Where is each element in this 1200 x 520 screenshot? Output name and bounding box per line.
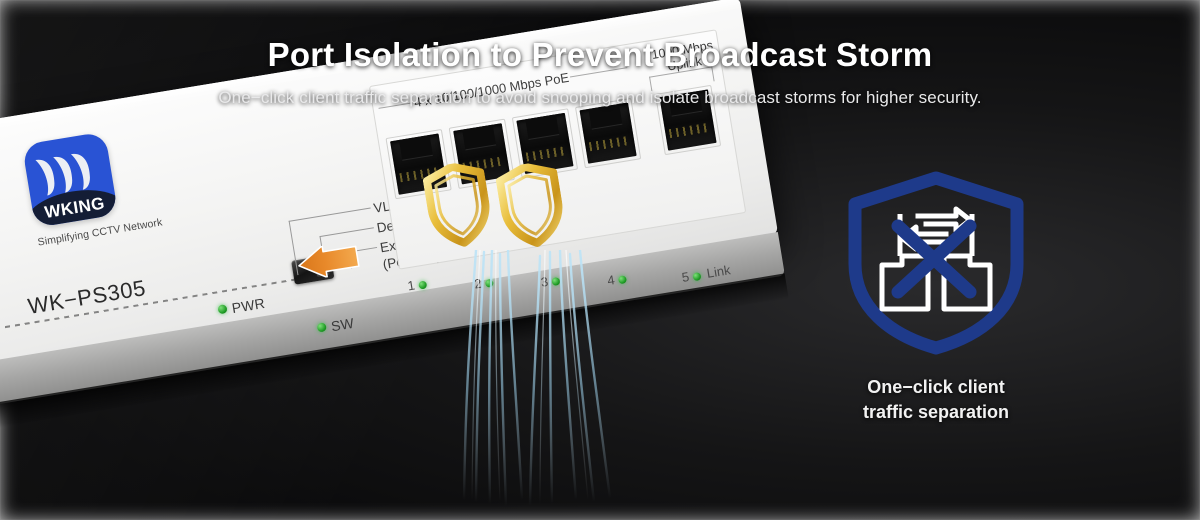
rj45-pins (589, 136, 630, 151)
port-4-link-led-icon (618, 275, 627, 284)
rj45-port-4-cavity (580, 102, 637, 163)
port-number-3: 3 (540, 272, 561, 290)
feature-caption: One−click client traffic separation (828, 375, 1044, 425)
feature-caption-line2: traffic separation (828, 400, 1044, 425)
feature-caption-line1: One−click client (828, 375, 1044, 400)
power-led-icon (217, 304, 227, 314)
port-number-4-label: 4 (606, 272, 616, 288)
port-1-link-led-icon (418, 280, 427, 289)
port-2-link-led-icon (485, 278, 494, 287)
switch-led-label: SW (330, 315, 355, 334)
page-title: Port Isolation to Prevent Broadcast Stor… (0, 36, 1200, 74)
port-number-1: 1 (406, 275, 427, 293)
page-subtitle: One−click client traffic separation to a… (0, 88, 1200, 108)
gold-shield-port2-icon (421, 159, 496, 252)
port-number-4: 4 (606, 270, 627, 288)
port-number-2-label: 2 (473, 276, 483, 292)
feature-block: One−click client traffic separation (828, 168, 1044, 425)
rj45-port-4[interactable] (575, 98, 641, 168)
port-number-1-label: 1 (406, 277, 416, 293)
wking-logo-icon: WKING (22, 131, 118, 227)
port-number-5-label: 5 (681, 269, 691, 285)
product-feature-banner: Port Isolation to Prevent Broadcast Stor… (0, 0, 1200, 520)
rj45-pins (669, 123, 710, 138)
port-number-2: 2 (473, 274, 494, 292)
headings: Port Isolation to Prevent Broadcast Stor… (0, 36, 1200, 108)
port-3-link-led-icon (551, 276, 560, 285)
shield-port-isolation-icon (836, 168, 1036, 356)
port-number-3-label: 3 (540, 274, 550, 290)
rj45-pins (526, 146, 567, 161)
port-5-link-led-icon (693, 272, 702, 281)
switch-led-icon (317, 323, 327, 333)
gold-shield-port3-icon (494, 159, 569, 252)
